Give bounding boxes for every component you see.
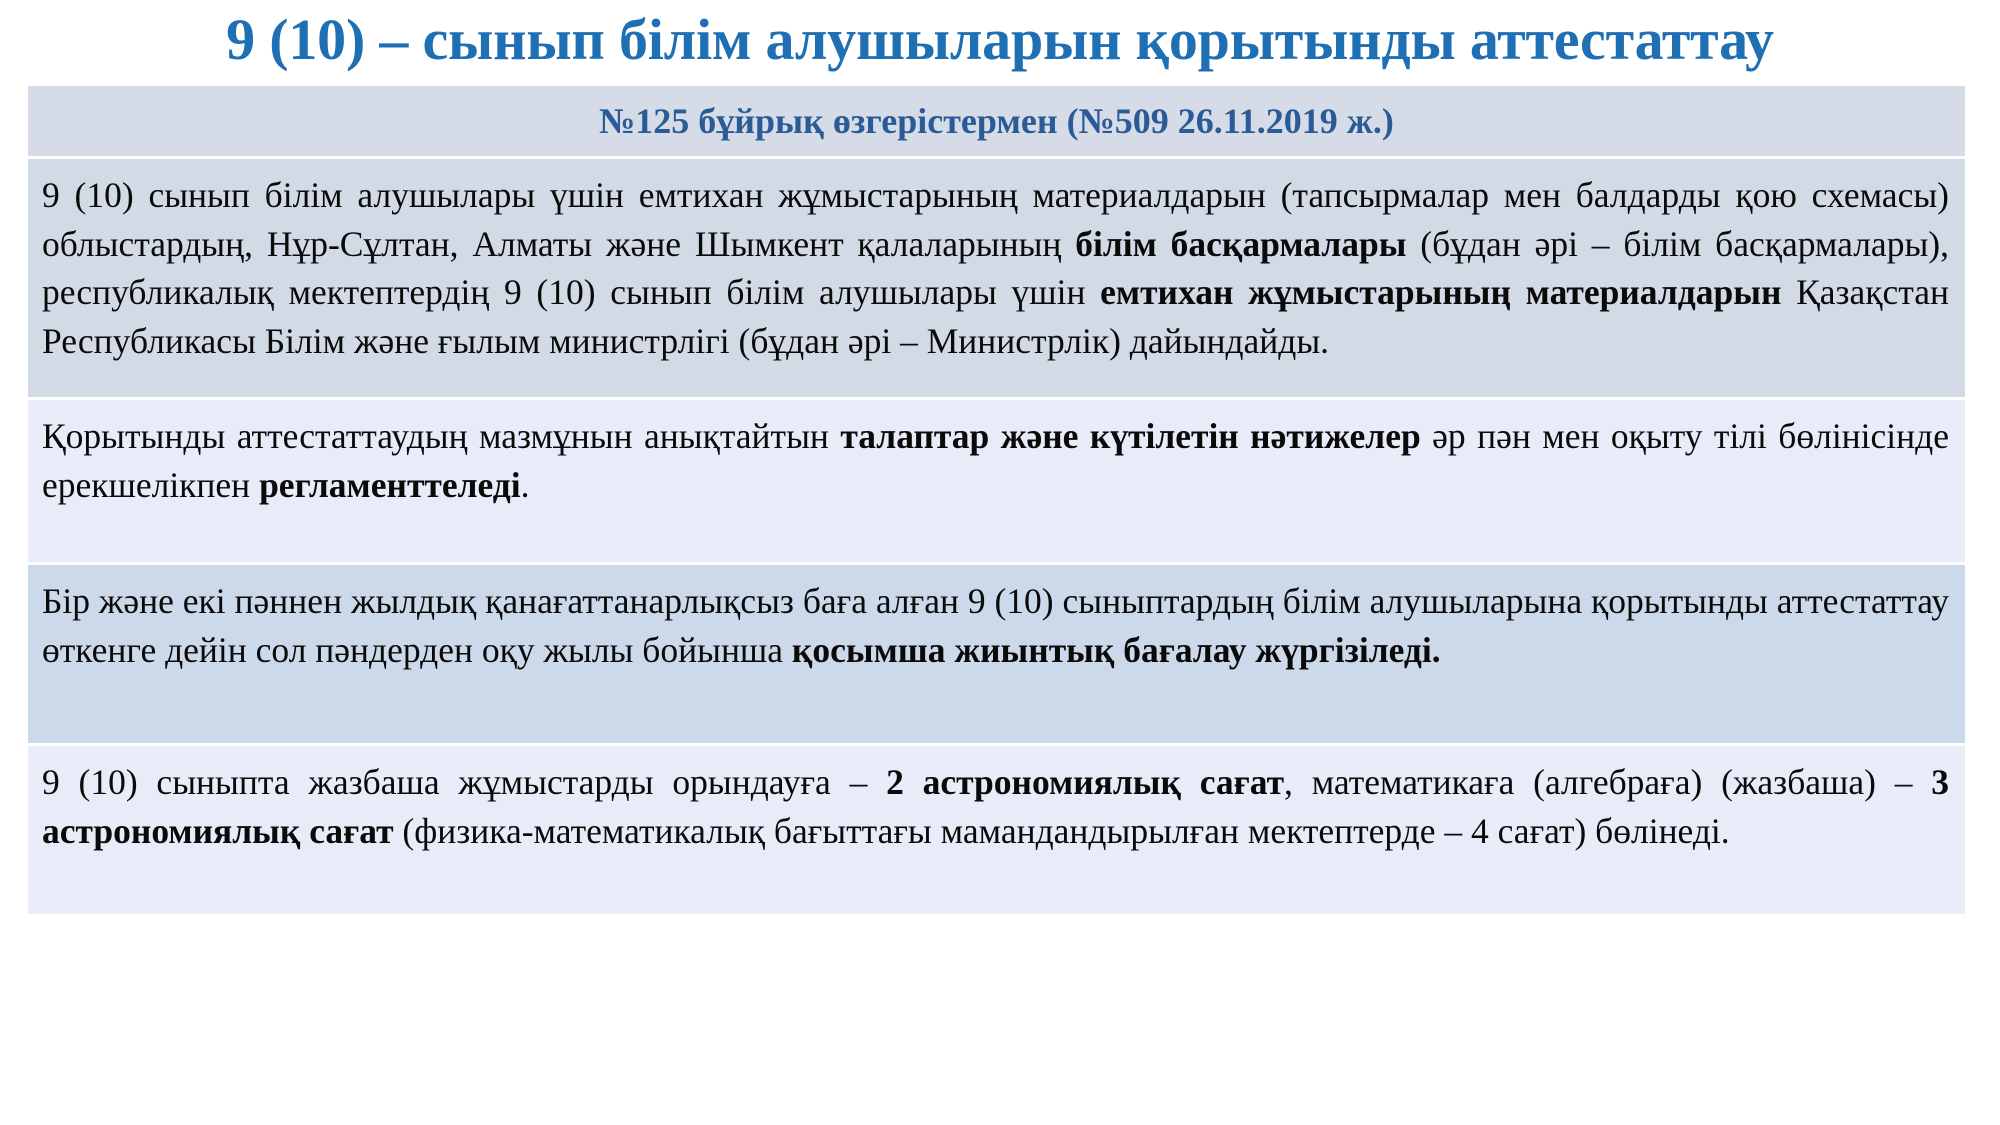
emphasis-text: емтихан жұмыстарының материалдарын (1100, 272, 1781, 312)
order-reference-label: №125 бұйрық өзгерістермен (№509 26.11.20… (599, 100, 1394, 142)
table-row-row-additional-assessment: Бір және екі пәннен жылдық қанағаттанарл… (28, 565, 1965, 743)
emphasis-text: талаптар және күтілетін нәтижелер (840, 416, 1420, 456)
emphasis-text: 2 астрономиялық сағат (886, 762, 1284, 802)
body-text: . (521, 465, 530, 505)
emphasis-text: қосымша жиынтық бағалау жүргізіледі. (792, 630, 1441, 670)
body-text: (физика-математикалық бағыттағы мамандан… (394, 811, 1730, 851)
body-text: 9 (10) сыныпта жазбаша жұмыстарды орында… (42, 762, 886, 802)
table-row-row-exam-hours: 9 (10) сыныпта жазбаша жұмыстарды орында… (28, 746, 1965, 914)
emphasis-text: білім басқармалары (1075, 224, 1406, 264)
table-row-row-exam-materials: 9 (10) сынып білім алушылары үшін емтиха… (28, 159, 1965, 397)
emphasis-text: регламенттеледі (259, 465, 521, 505)
slide-root: 9 (10) – сынып білім алушыларын қорытынд… (0, 0, 2000, 1125)
content-table: №125 бұйрық өзгерістермен (№509 26.11.20… (28, 86, 1965, 917)
table-header-row: №125 бұйрық өзгерістермен (№509 26.11.20… (28, 86, 1965, 156)
page-title: 9 (10) – сынып білім алушыларын қорытынд… (0, 6, 2000, 74)
body-text: Қорытынды аттестаттаудың мазмұнын анықта… (42, 416, 840, 456)
body-text: , математикаға (алгебраға) (жазбаша) – (1284, 762, 1931, 802)
table-row-row-requirements: Қорытынды аттестаттаудың мазмұнын анықта… (28, 400, 1965, 562)
